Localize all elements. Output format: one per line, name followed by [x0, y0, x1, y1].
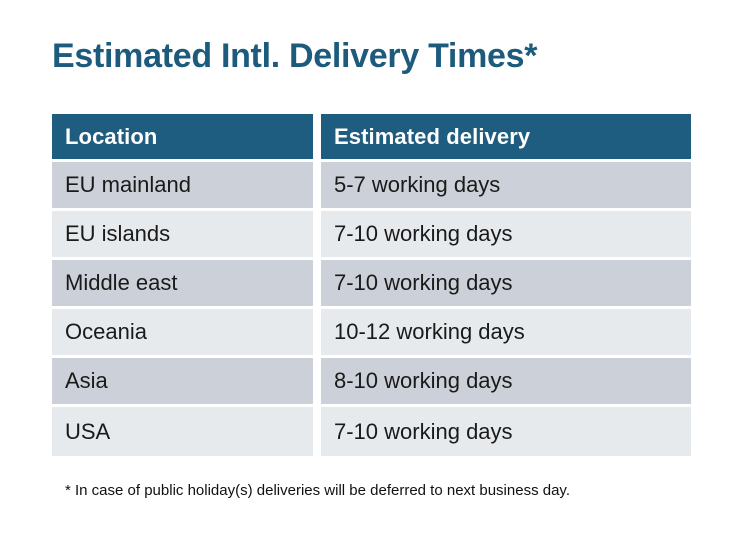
cell-location: Oceania: [52, 309, 321, 358]
cell-estimated-delivery: 5-7 working days: [321, 162, 691, 211]
table-row: Middle east 7-10 working days: [52, 260, 691, 309]
table-header-row: Location Estimated delivery: [52, 114, 691, 162]
table-body: EU mainland 5-7 working days EU islands …: [52, 162, 691, 456]
cell-estimated-delivery: 8-10 working days: [321, 358, 691, 407]
column-header-estimated-delivery: Estimated delivery: [321, 114, 691, 162]
delivery-times-page: Estimated Intl. Delivery Times* Location…: [0, 0, 745, 536]
cell-estimated-delivery: 7-10 working days: [321, 211, 691, 260]
table-row: Oceania 10-12 working days: [52, 309, 691, 358]
table-row: EU islands 7-10 working days: [52, 211, 691, 260]
cell-location: USA: [52, 407, 321, 456]
cell-estimated-delivery: 10-12 working days: [321, 309, 691, 358]
cell-estimated-delivery: 7-10 working days: [321, 260, 691, 309]
page-title: Estimated Intl. Delivery Times*: [52, 36, 537, 76]
cell-location: Asia: [52, 358, 321, 407]
delivery-times-table: Location Estimated delivery EU mainland …: [52, 114, 691, 456]
table-row: USA 7-10 working days: [52, 407, 691, 456]
table-header: Location Estimated delivery: [52, 114, 691, 162]
column-header-location: Location: [52, 114, 321, 162]
cell-location: Middle east: [52, 260, 321, 309]
table-row: Asia 8-10 working days: [52, 358, 691, 407]
footnote-text: * In case of public holiday(s) deliverie…: [65, 481, 570, 501]
cell-location: EU islands: [52, 211, 321, 260]
table-row: EU mainland 5-7 working days: [52, 162, 691, 211]
cell-location: EU mainland: [52, 162, 321, 211]
cell-estimated-delivery: 7-10 working days: [321, 407, 691, 456]
